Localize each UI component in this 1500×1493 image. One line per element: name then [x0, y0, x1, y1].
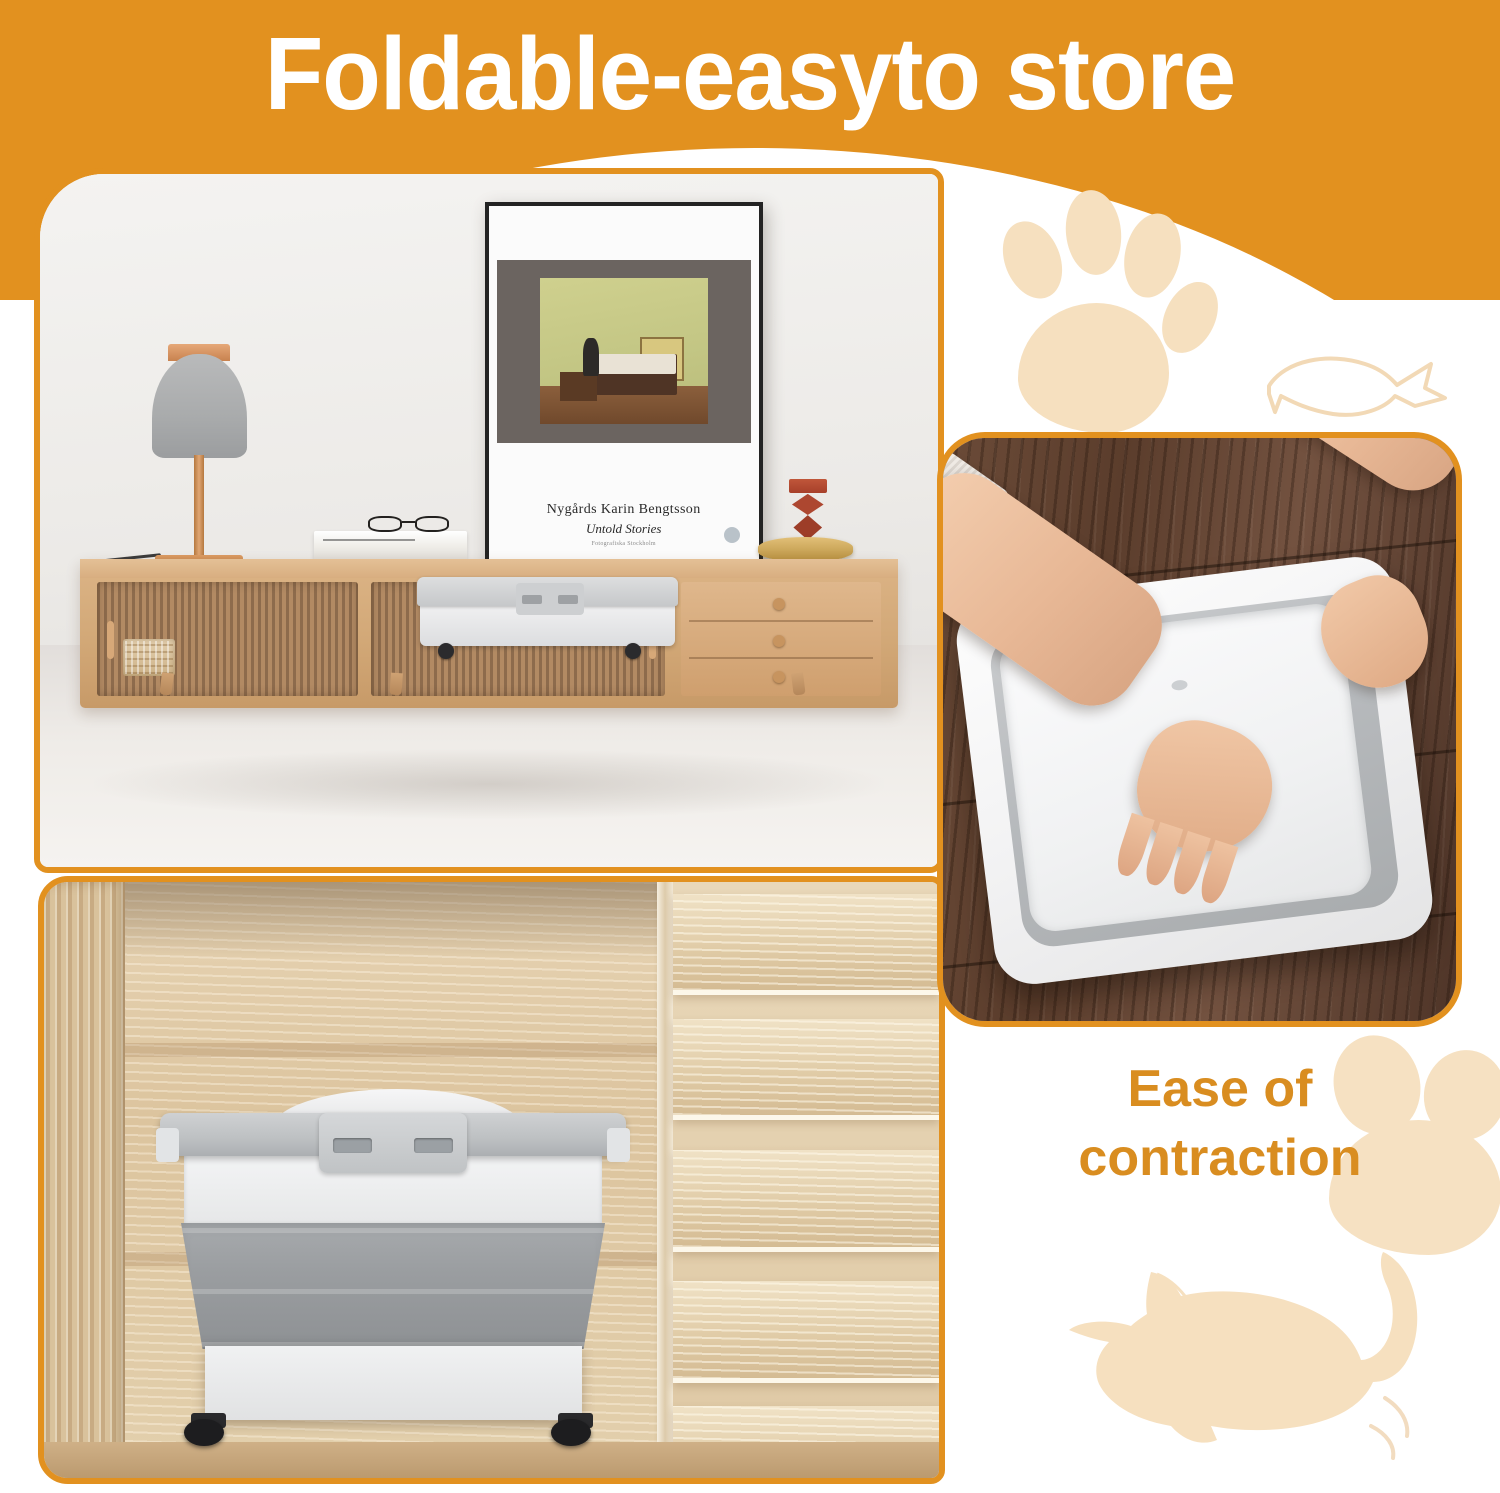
artwork-bed	[590, 354, 677, 395]
console-leg-middle	[389, 673, 402, 695]
shelf-slat	[673, 1019, 939, 1120]
artwork-figure	[583, 338, 598, 376]
ease-of-contraction-callout: Ease of contraction	[1020, 1055, 1420, 1192]
paw-toe	[992, 213, 1073, 308]
infographic-canvas: Foldable-easyto store	[0, 0, 1500, 1493]
lamp-stem	[194, 455, 205, 559]
poster-title: Untold Stories	[489, 521, 759, 537]
collapsed-box-wheel-left	[438, 643, 454, 659]
page-title: Foldable-easyto store	[53, 18, 1448, 129]
console-drawers	[681, 582, 881, 695]
drawer-knob-1	[773, 598, 785, 610]
wardrobe-shelf-stack	[673, 882, 939, 1478]
bin-lid-latch-right	[607, 1128, 630, 1162]
collapsed-storage-box	[417, 577, 677, 653]
lens-left	[368, 516, 402, 531]
wardrobe-floor	[44, 1442, 939, 1478]
handle-slot-right	[558, 595, 578, 604]
paw-toe	[1116, 208, 1187, 302]
glasses-bridge	[402, 521, 415, 523]
poster-subtitle: Fotografiska Stockholm	[489, 541, 759, 547]
shelf-slat	[673, 894, 939, 995]
panel-hands-collapsing	[937, 432, 1462, 1027]
bin-handle	[319, 1113, 468, 1173]
paw-toe	[1062, 187, 1125, 277]
panel-wardrobe	[38, 876, 945, 1484]
artwork-bedsheet	[592, 354, 676, 374]
poster-artwork	[497, 260, 751, 443]
cat-silhouette-icon	[1035, 1230, 1465, 1475]
caster-tire	[551, 1419, 591, 1446]
callout-line-2: contraction	[1020, 1124, 1420, 1193]
right-forearm	[1254, 432, 1462, 508]
bin-pleat	[177, 1228, 610, 1233]
book-spine-text	[323, 539, 415, 541]
candle-diamond-upper	[792, 494, 824, 515]
artwork-dresser	[560, 372, 597, 401]
bin-lid-latch-left	[156, 1128, 179, 1162]
wardrobe-back-seam-1	[125, 1043, 662, 1057]
drawer-seam-1	[689, 620, 873, 622]
fish-icon	[1255, 330, 1455, 430]
caster-tire	[184, 1419, 224, 1446]
bin-handle-slot-right	[414, 1138, 453, 1154]
console-top-surface	[80, 559, 897, 578]
bin-handle-slot-left	[333, 1138, 372, 1154]
collapsed-box-handle	[516, 583, 584, 615]
bin-pleat	[177, 1289, 610, 1294]
drawer-seam-2	[689, 657, 873, 659]
drawer-knob-2	[773, 635, 785, 647]
candle-holder	[789, 479, 827, 541]
paw-main-pad	[1018, 303, 1169, 433]
poster-caption: Nygårds Karin Bengtsson Untold Stories F…	[489, 502, 759, 547]
expanded-storage-bin	[160, 1103, 625, 1437]
living-room-photo: Nygårds Karin Bengtsson Untold Stories F…	[40, 174, 938, 867]
bin-caster-wheel-left	[184, 1413, 235, 1446]
callout-line-1: Ease of	[1020, 1055, 1420, 1124]
wardrobe-divider	[657, 882, 673, 1478]
dark-wood-table-photo	[943, 438, 1456, 1021]
wardrobe-photo	[44, 882, 939, 1478]
cabinet-handle-left	[107, 621, 114, 659]
bin-base	[205, 1346, 582, 1419]
bin-caster-wheel-right	[551, 1413, 602, 1446]
bin-collapsible-body	[177, 1223, 610, 1350]
basket-weave-texture	[125, 641, 173, 674]
eyeglasses	[368, 516, 449, 531]
drawer-knob-3	[773, 671, 785, 683]
poster-artwork-inner	[540, 278, 708, 425]
wardrobe-top-shadow	[125, 882, 662, 959]
collapsed-box-wheel-right	[625, 643, 641, 659]
poster-artist: Nygårds Karin Bengtsson	[489, 502, 759, 518]
shelf-slat	[673, 1150, 939, 1251]
lens-right	[415, 516, 449, 531]
console-cabinet-left	[97, 582, 358, 695]
paw-print-icon	[1005, 185, 1215, 435]
floor-shadow	[94, 749, 884, 818]
woven-basket	[123, 639, 175, 676]
wardrobe-left-side	[44, 882, 125, 1478]
handle-slot-left	[522, 595, 542, 604]
framed-poster: Nygårds Karin Bengtsson Untold Stories F…	[485, 202, 763, 569]
panel-living-room: Nygårds Karin Bengtsson Untold Stories F…	[34, 168, 944, 873]
candle-top-disc	[789, 479, 827, 493]
shelf-slat	[673, 1281, 939, 1382]
bin-center-dimple	[1171, 679, 1188, 691]
